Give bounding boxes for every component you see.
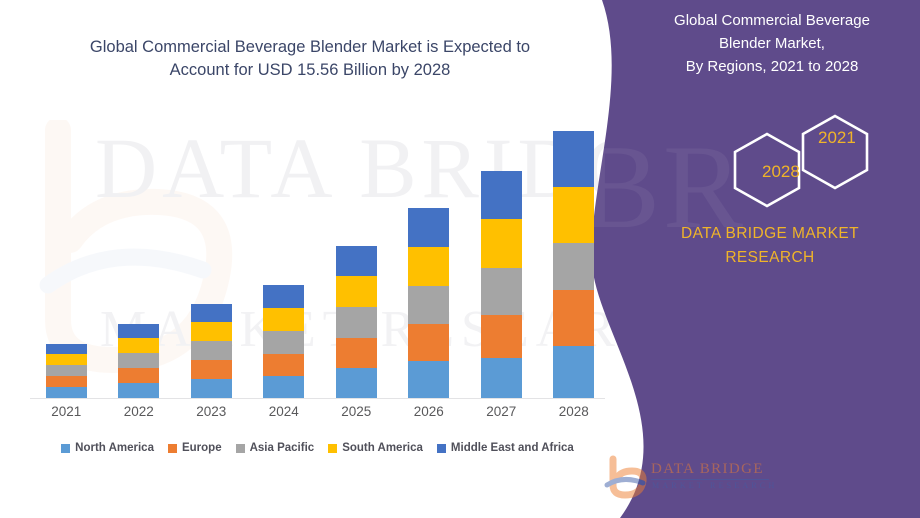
bar-segment[interactable] [408,324,449,361]
bar-column [30,100,102,398]
bar-segment[interactable] [263,308,304,331]
legend-label: Middle East and Africa [451,442,574,454]
bar-segment[interactable] [553,346,594,398]
bar-segment[interactable] [481,171,522,219]
bar-segment[interactable] [553,187,594,243]
bar-segment[interactable] [336,338,377,368]
bar-column [393,100,465,398]
panel-brand-line-2: RESEARCH [620,246,920,270]
bar-segment[interactable] [263,285,304,308]
bar-segment[interactable] [336,246,377,276]
bar-segment[interactable] [481,358,522,398]
bar-segment[interactable] [263,331,304,354]
x-axis-tick-label: 2028 [538,404,610,419]
stacked-bar[interactable] [46,344,87,398]
x-axis-tick-label: 2025 [320,404,392,419]
bar-segment[interactable] [191,360,232,379]
legend-item[interactable]: South America [328,442,423,454]
bar-segment[interactable] [118,383,159,398]
bar-segment[interactable] [46,387,87,398]
stacked-bar[interactable] [553,131,594,398]
panel-content: BR Global Commercial Beverage Blender Ma… [590,0,920,518]
bar-column [320,100,392,398]
x-axis-tick-label: 2023 [175,404,247,419]
bar-segment[interactable] [336,276,377,307]
bar-segment[interactable] [408,247,449,286]
legend-swatch-icon [168,444,177,453]
bar-segment[interactable] [553,131,594,187]
x-axis-tick-label: 2024 [248,404,320,419]
bar-column [538,100,610,398]
corner-logo-main-text: DATA BRIDGE [651,461,764,478]
panel-title: Global Commercial Beverage Blender Marke… [638,10,906,78]
bar-segment[interactable] [553,243,594,290]
legend-item[interactable]: Europe [168,442,222,454]
right-info-panel: BR Global Commercial Beverage Blender Ma… [590,0,920,518]
x-axis-tick-label: 2021 [30,404,102,419]
bar-segment[interactable] [191,341,232,360]
legend-swatch-icon [61,444,70,453]
bar-segment[interactable] [408,286,449,324]
stacked-bar[interactable] [481,171,522,398]
bar-segment[interactable] [46,365,87,376]
chart-title: Global Commercial Beverage Blender Marke… [40,36,580,83]
legend-swatch-icon [236,444,245,453]
bar-segment[interactable] [118,338,159,353]
chart-legend: North AmericaEuropeAsia PacificSouth Ame… [30,442,605,454]
bar-segment[interactable] [118,324,159,338]
bar-segment[interactable] [553,290,594,346]
panel-title-line-2: Blender Market, [638,33,906,56]
bar-segment[interactable] [336,368,377,398]
bar-segment[interactable] [263,354,304,376]
bar-segment[interactable] [46,376,87,387]
panel-title-line-1: Global Commercial Beverage [638,10,906,33]
stacked-bar[interactable] [408,208,449,398]
bar-segment[interactable] [481,315,522,358]
bar-segment[interactable] [336,307,377,338]
bar-segment[interactable] [408,208,449,247]
bar-segment[interactable] [263,376,304,398]
stacked-bar[interactable] [336,246,377,398]
corner-logo: DATA BRIDGE MARKET RESEARCH [603,455,773,503]
bar-segment[interactable] [191,304,232,322]
hexagon-2021-shape [803,116,867,188]
legend-label: Asia Pacific [250,442,315,454]
x-axis-line [30,398,605,399]
corner-logo-rule [651,479,769,480]
x-axis-tick-label: 2022 [103,404,175,419]
corner-logo-sub-text: MARKET RESEARCH [652,481,777,490]
stacked-bar[interactable] [118,324,159,398]
hexagon-label-end: 2028 [762,162,800,182]
legend-label: Europe [182,442,222,454]
bar-segment[interactable] [481,268,522,315]
panel-brand: DATA BRIDGE MARKET RESEARCH [620,222,920,271]
bar-column [175,100,247,398]
panel-brand-line-1: DATA BRIDGE MARKET [620,222,920,246]
bar-group [30,100,610,398]
infographic-slide: DATA BRIDGE MARKET RESEARCH Global Comme… [0,0,920,518]
bar-segment[interactable] [481,219,522,268]
legend-label: North America [75,442,154,454]
panel-title-line-3: By Regions, 2021 to 2028 [638,56,906,79]
legend-item[interactable]: Asia Pacific [236,442,315,454]
stacked-bar[interactable] [191,304,232,398]
bar-segment[interactable] [118,368,159,383]
legend-item[interactable]: Middle East and Africa [437,442,574,454]
legend-swatch-icon [328,444,337,453]
bar-segment[interactable] [191,322,232,341]
legend-label: South America [342,442,423,454]
bar-column [103,100,175,398]
x-axis-tick-label: 2027 [465,404,537,419]
chart-title-line-2: Account for USD 15.56 Billion by 2028 [40,59,580,82]
stacked-bar[interactable] [263,285,304,398]
bar-segment[interactable] [46,354,87,365]
bar-segment[interactable] [191,379,232,398]
bar-column [465,100,537,398]
legend-swatch-icon [437,444,446,453]
legend-item[interactable]: North America [61,442,154,454]
bar-segment[interactable] [46,344,87,354]
bar-column [248,100,320,398]
bar-segment[interactable] [118,353,159,368]
bar-segment[interactable] [408,361,449,398]
chart-title-line-1: Global Commercial Beverage Blender Marke… [40,36,580,59]
hexagon-outlines [695,110,885,210]
hexagon-badges: 2021 2028 [695,110,885,210]
hexagon-label-start: 2021 [818,128,856,148]
x-axis-tick-label: 2026 [393,404,465,419]
x-axis-labels: 20212022202320242025202620272028 [30,404,610,419]
